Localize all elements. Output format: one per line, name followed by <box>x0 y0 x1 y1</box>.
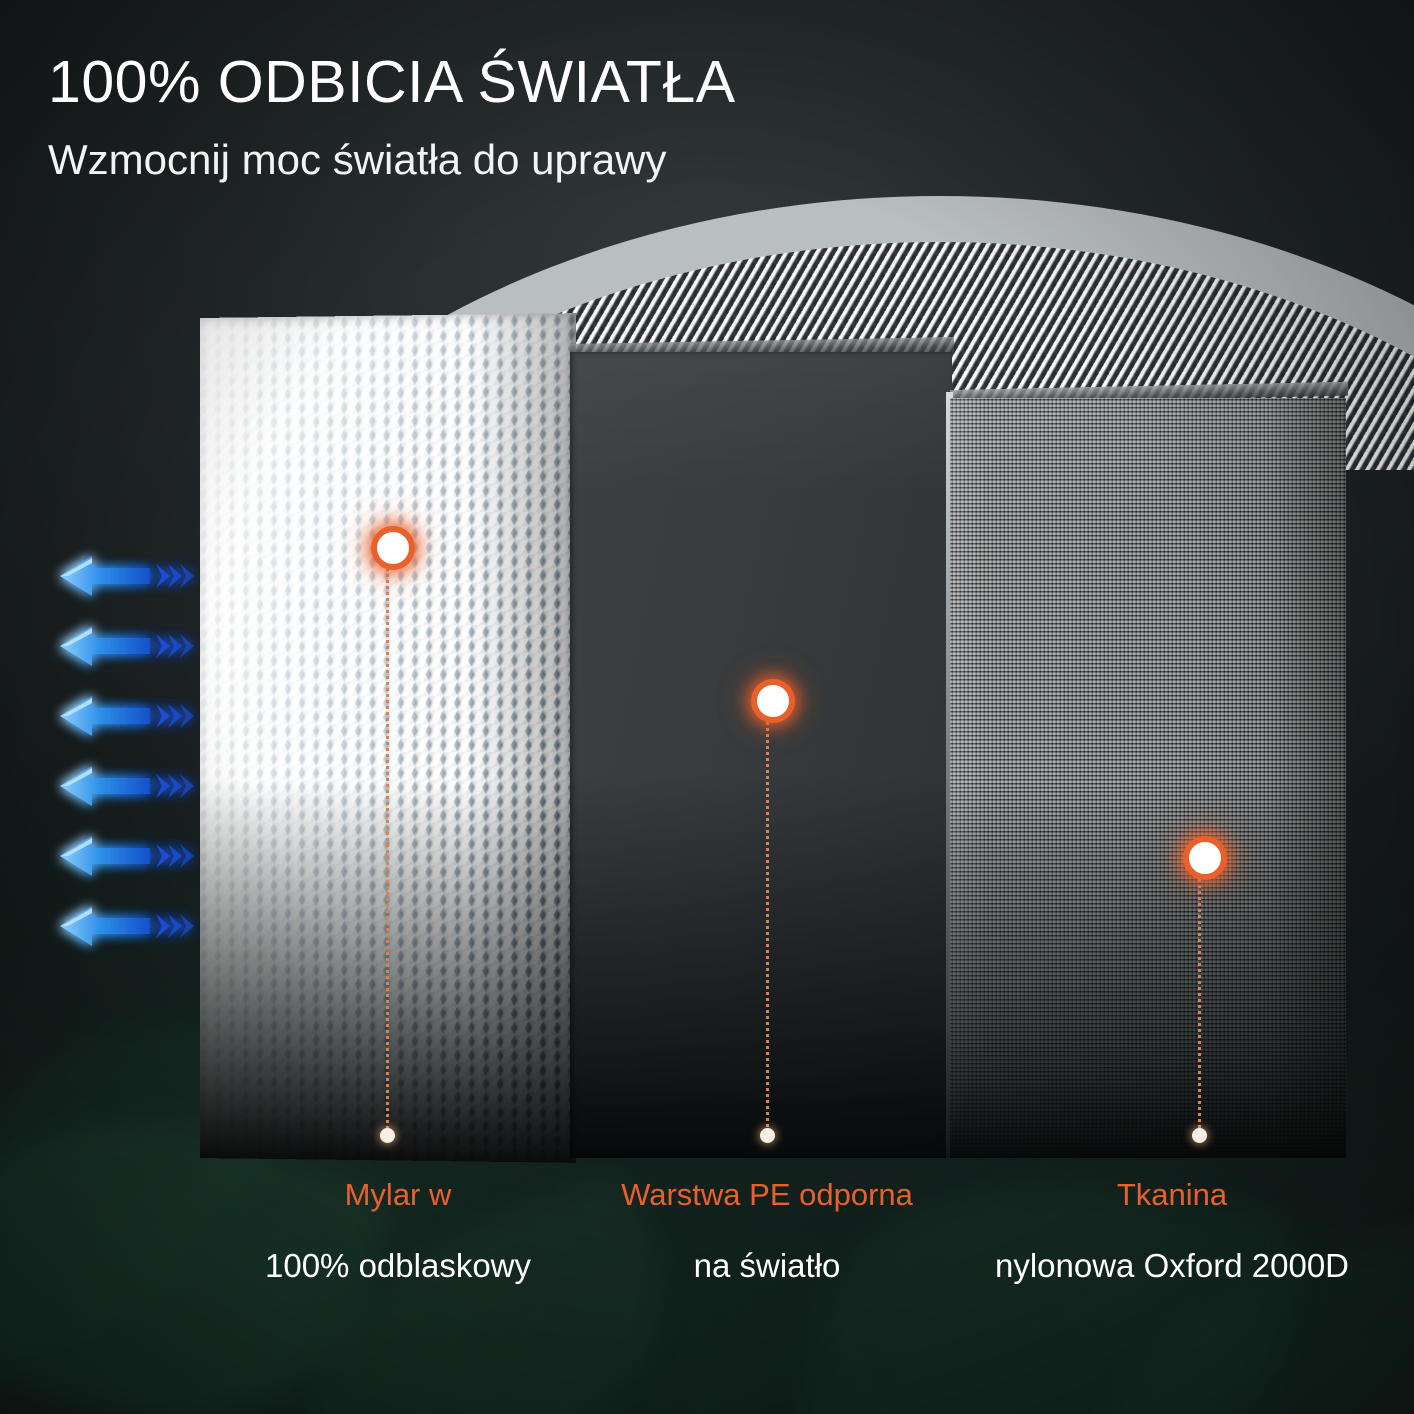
callout-marker-pe-layer[interactable] <box>751 679 795 723</box>
caption-title-mylar: Mylar w <box>345 1178 452 1212</box>
caption-sub-oxford-fabric: nylonowa Oxford 2000D <box>995 1248 1349 1284</box>
callout-marker-oxford-fabric[interactable] <box>1183 836 1227 880</box>
callout-marker-mylar[interactable] <box>371 526 415 570</box>
page-subtitle: Wzmocnij moc światła do uprawy <box>48 136 736 184</box>
page-title: 100% ODBICIA ŚWIATŁA <box>48 52 736 114</box>
reflect-arrow-5 <box>58 830 198 882</box>
panel-oxford-fabric <box>950 398 1346 1158</box>
callout-line-pe-layer <box>766 703 769 1135</box>
callout-endpoint-mylar <box>380 1128 395 1143</box>
callout-line-oxford-fabric <box>1198 860 1201 1135</box>
callout-endpoint-pe-layer <box>760 1128 775 1143</box>
caption-title-pe-layer: Warstwa PE odporna <box>621 1178 913 1212</box>
caption-title-oxford-fabric: Tkanina <box>1117 1178 1227 1212</box>
panel-pe-layer <box>570 352 952 1158</box>
infographic-canvas: Mylar w100% odblaskowyWarstwa PE odporna… <box>0 0 1414 1414</box>
callout-line-mylar <box>386 550 389 1135</box>
reflect-arrow-3 <box>58 690 198 742</box>
reflect-arrow-4 <box>58 760 198 812</box>
caption-sub-mylar: 100% odblaskowy <box>265 1248 531 1284</box>
caption-sub-pe-layer: na światło <box>694 1248 841 1284</box>
heading-block: 100% ODBICIA ŚWIATŁA Wzmocnij moc światł… <box>48 52 736 184</box>
callout-endpoint-oxford-fabric <box>1192 1128 1207 1143</box>
reflect-arrow-2 <box>58 620 198 672</box>
reflect-arrow-6 <box>58 900 198 952</box>
reflect-arrow-1 <box>58 550 198 602</box>
